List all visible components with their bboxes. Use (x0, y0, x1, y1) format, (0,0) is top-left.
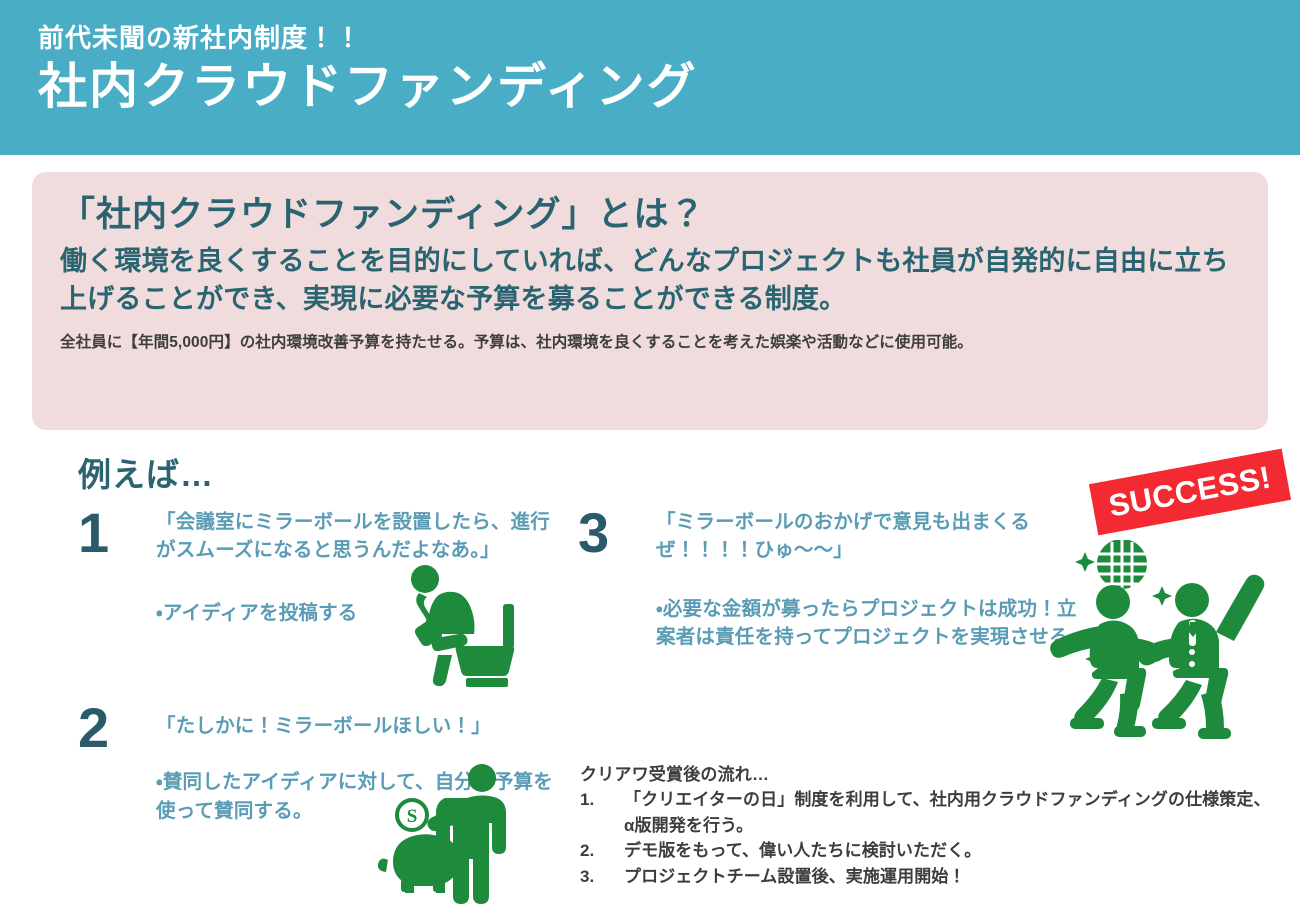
piggy-bank-icon: S (375, 762, 525, 919)
svg-text:S: S (407, 806, 418, 827)
step-2-quote: 「たしかに！ミラーボールほしい！」 (156, 712, 556, 740)
flow-list-item: 2. デモ版をもって、偉い人たちに検討いただく。 (580, 838, 1280, 864)
flow-list-item: 1. 「クリエイターの日」制度を利用して、社内用クラウドファンディングの仕様策定… (580, 787, 1280, 838)
success-badge-label: SUCCESS! (1106, 459, 1274, 524)
definition-panel: 「社内クラウドファンディング」とは？ 働く環境を良くすることを目的にしていれば、… (32, 172, 1268, 430)
header-eyebrow: 前代未聞の新社内制度！！ (38, 22, 1300, 55)
flow-item-text: プロジェクトチーム設置後、実施運用開始！ (624, 864, 1280, 890)
flow-section: クリアワ受賞後の流れ… 1. 「クリエイターの日」制度を利用して、社内用クラウド… (580, 760, 1280, 889)
step-2-number: 2 (78, 700, 109, 756)
definition-note: 全社員に【年間5,000円】の社内環境改善予算を持たせる。予算は、社内環境を良く… (60, 331, 1242, 355)
flow-item-marker: 1. (580, 787, 624, 838)
step-3-action: ・必要な金額が募ったらプロジェクトは成功！立案者は責任を持ってプロジェクトを実現… (656, 595, 1096, 652)
flow-item-text: 「クリエイターの日」制度を利用して、社内用クラウドファンディングの仕様策定、α版… (624, 787, 1280, 838)
header-title: 社内クラウドファンディング (38, 59, 1300, 117)
flow-title: クリアワ受賞後の流れ… (580, 760, 1280, 785)
step-3-quote: 「ミラーボールのおかげで意見も出まくるぜ！！！！ひゅ〜〜」 (656, 508, 1096, 565)
flow-item-marker: 2. (580, 838, 624, 864)
celebrating-people-icon (1040, 540, 1280, 780)
slide-header: 前代未聞の新社内制度！！ 社内クラウドファンディング (0, 0, 1300, 155)
step-3-body: 「ミラーボールのおかげで意見も出まくるぜ！！！！ひゅ〜〜」 ・必要な金額が募った… (656, 508, 1096, 651)
step-1-quote: 「会議室にミラーボールを設置したら、進行がスムーズになると思うんだよなあ。」 (156, 508, 556, 565)
definition-title: 「社内クラウドファンディング」とは？ (60, 194, 1242, 236)
flow-list-item: 3. プロジェクトチーム設置後、実施運用開始！ (580, 864, 1280, 890)
examples-heading: 例えば… (78, 448, 214, 496)
flow-item-text: デモ版をもって、偉い人たちに検討いただく。 (624, 838, 1280, 864)
slide-root: 前代未聞の新社内制度！！ 社内クラウドファンディング 「社内クラウドファンディン… (0, 0, 1300, 919)
success-badge: SUCCESS! (1089, 449, 1291, 536)
definition-lead: 働く環境を良くすることを目的にしていれば、どんなプロジェクトも社員が自発的に自由… (60, 242, 1242, 319)
toilet-thinker-icon (395, 560, 520, 688)
step-1-number: 1 (78, 505, 109, 561)
flow-item-marker: 3. (580, 864, 624, 890)
step-3-number: 3 (578, 505, 609, 561)
